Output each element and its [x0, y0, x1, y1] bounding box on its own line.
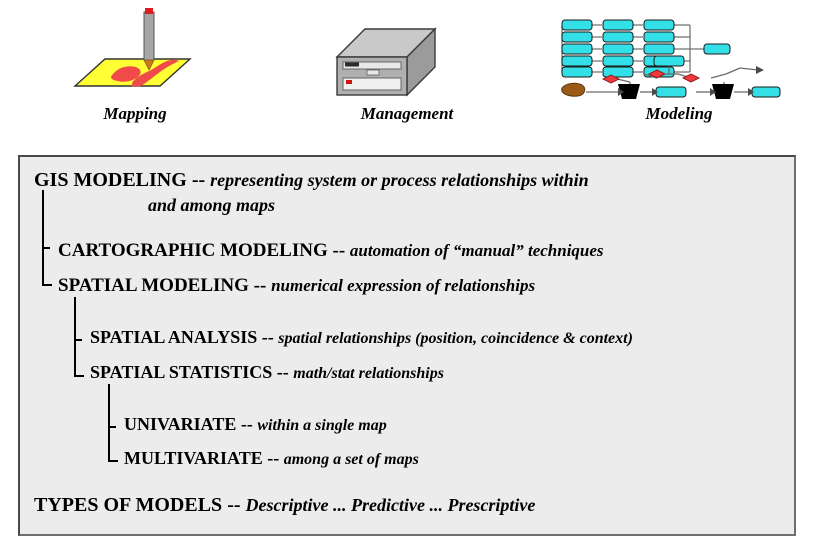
outline-term-multivariate: MULTIVARIATE: [124, 448, 267, 468]
icon-cell-management: Management: [272, 0, 542, 145]
outline-desc-multivariate: among a set of maps: [284, 451, 419, 468]
outline-row-cartographic-modeling: CARTOGRAPHIC MODELING -- automation of “…: [58, 240, 604, 262]
gis-modeling-outline-panel: GIS MODELING -- representing system or p…: [18, 155, 796, 536]
bracket-elbow: [74, 375, 84, 377]
outline-row-spatial-analysis: SPATIAL ANALYSIS -- spatial relationship…: [90, 327, 633, 348]
disk-drive-icon: [272, 4, 542, 104]
icon-label-mapping: Mapping: [0, 104, 270, 124]
outline-row-multivariate: MULTIVARIATE -- among a set of maps: [124, 448, 419, 469]
outline-desc-gis-modeling-continuation: and among maps: [148, 195, 275, 215]
outline-desc-univariate: within a single map: [257, 417, 386, 434]
outline-desc-types-of-models: Descriptive ... Predictive ... Prescript…: [246, 495, 536, 515]
bracket-elbow: [42, 284, 52, 286]
icon-label-management: Management: [272, 104, 542, 124]
bracket-tick: [74, 339, 82, 341]
bracket-tick: [108, 426, 116, 428]
outline-separator: --: [262, 327, 279, 347]
outline-desc-spatial-modeling: numerical expression of relationships: [271, 276, 535, 295]
outline-row-gis-modeling-continuation: and among maps: [148, 195, 275, 216]
outline-separator: --: [192, 169, 210, 191]
outline-separator: --: [241, 414, 258, 434]
outline-row-univariate: UNIVARIATE -- within a single map: [124, 414, 387, 435]
bracket-stem: [42, 190, 44, 286]
outline-desc-cartographic-modeling: automation of “manual” techniques: [350, 241, 604, 260]
outline-term-gis-modeling: GIS MODELING: [34, 169, 192, 191]
bracket-tick: [42, 247, 50, 249]
outline-term-types-of-models: TYPES OF MODELS: [34, 494, 227, 516]
flowchart-network-icon: [544, 4, 814, 104]
outline-row-spatial-statistics: SPATIAL STATISTICS -- math/stat relation…: [90, 362, 444, 383]
outline-term-spatial-modeling: SPATIAL MODELING: [58, 275, 254, 296]
outline-separator: --: [267, 448, 284, 468]
outline-row-types-of-models: TYPES OF MODELS -- Descriptive ... Predi…: [34, 494, 535, 517]
icon-cell-mapping: Mapping: [0, 0, 270, 145]
outline-term-cartographic-modeling: CARTOGRAPHIC MODELING: [58, 240, 333, 261]
outline-desc-gis-modeling: representing system or process relations…: [210, 170, 589, 190]
outline-separator: --: [333, 240, 350, 261]
map-with-pen-icon: [0, 4, 270, 104]
icon-label-modeling: Modeling: [544, 104, 814, 124]
outline-desc-spatial-statistics: math/stat relationships: [293, 365, 444, 382]
outline-separator: --: [277, 362, 294, 382]
outline-row-gis-modeling: GIS MODELING -- representing system or p…: [34, 169, 589, 192]
outline-term-spatial-statistics: SPATIAL STATISTICS: [90, 362, 277, 382]
outline-term-spatial-analysis: SPATIAL ANALYSIS: [90, 327, 262, 347]
icon-cell-modeling: Modeling: [544, 0, 814, 145]
icon-row: Mapping Management: [0, 0, 814, 145]
outline-term-univariate: UNIVARIATE: [124, 414, 241, 434]
outline-desc-spatial-analysis: spatial relationships (position, coincid…: [278, 330, 633, 347]
bracket-stem: [74, 297, 76, 377]
outline-separator: --: [227, 494, 245, 516]
outline-separator: --: [254, 275, 271, 296]
bracket-elbow: [108, 460, 118, 462]
bracket-stem: [108, 384, 110, 462]
outline-row-spatial-modeling: SPATIAL MODELING -- numerical expression…: [58, 275, 535, 297]
